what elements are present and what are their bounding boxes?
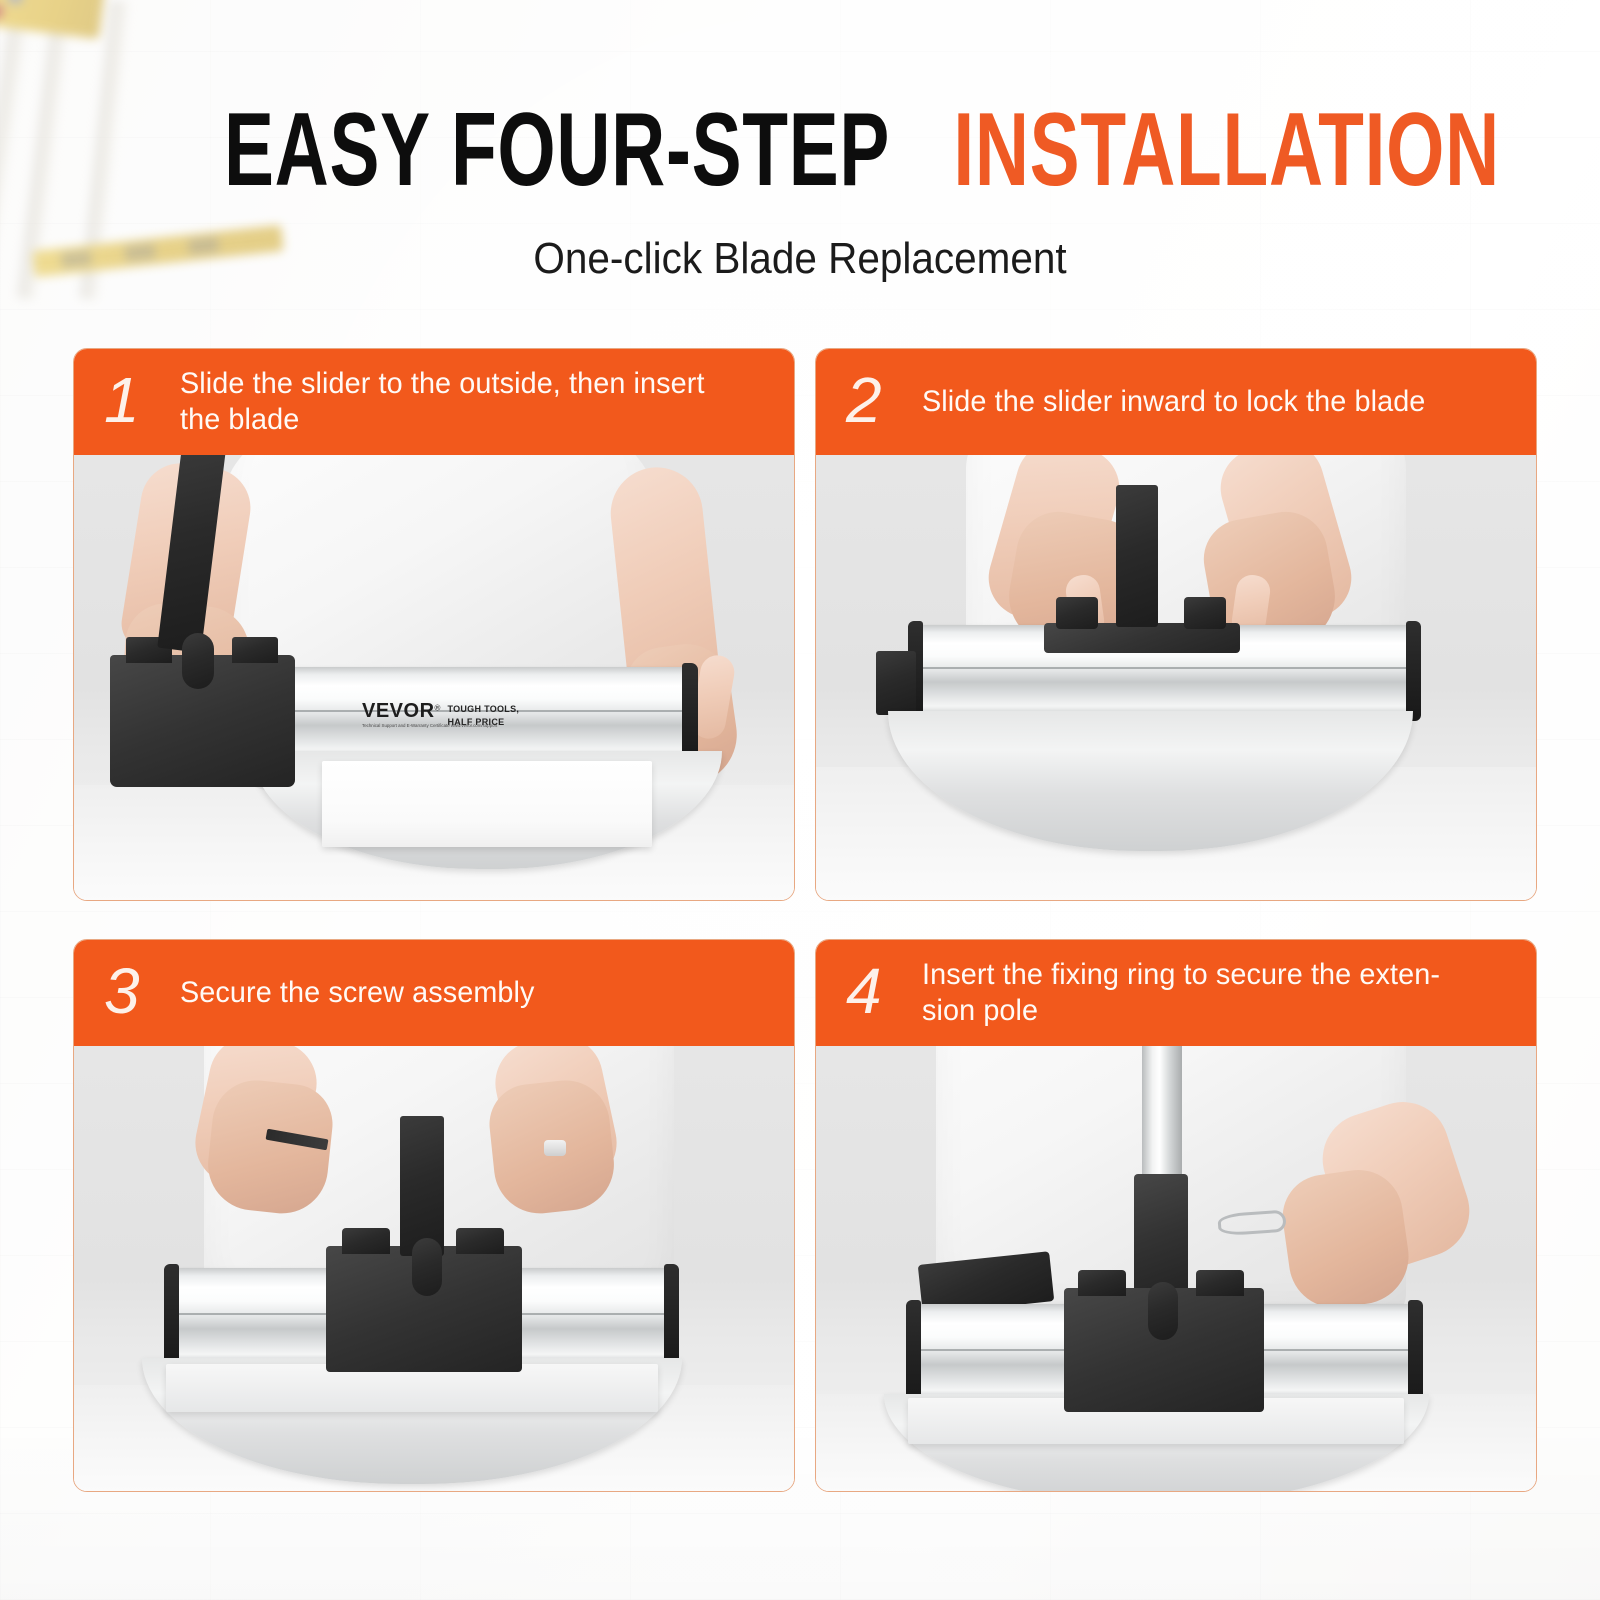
- vevor-fine-print: Technical Support and E-Warranty Certifi…: [362, 723, 497, 729]
- infographic-page: EASY FOUR-STEP INSTALLATION One-click Bl…: [0, 0, 1600, 1600]
- slider-tab-right: [232, 637, 278, 663]
- steps-grid: 1 Slide the slider to the outside, then …: [73, 348, 1537, 1533]
- slider-tab-left: [1056, 597, 1098, 629]
- step-text-3: Secure the screw assembly: [180, 975, 535, 1011]
- blade-insert-sheet: [322, 761, 652, 847]
- step-header-2: 2 Slide the slider inward to lock the bl…: [816, 349, 1536, 455]
- step-card-2: 2 Slide the slider inward to lock the bl…: [815, 348, 1537, 901]
- step-photo-2: [816, 455, 1536, 901]
- pole-grip-sleeve: [1134, 1174, 1188, 1294]
- tube-end-cap-left: [164, 1264, 179, 1370]
- nut-washer: [544, 1140, 566, 1156]
- step-photo-3: [74, 1046, 794, 1492]
- pivot-knuckle: [1148, 1282, 1178, 1340]
- bracket-tab-left: [342, 1228, 390, 1254]
- step-header-3: 3 Secure the screw assembly: [74, 940, 794, 1046]
- step-text-1: Slide the slider to the outside, then in…: [180, 366, 748, 438]
- step-header-1: 1 Slide the slider to the outside, then …: [74, 349, 794, 455]
- velcro-strap: [876, 651, 916, 715]
- bracket-tab-right: [456, 1228, 504, 1254]
- tube-end-cap-right: [664, 1264, 679, 1370]
- vevor-tagline-1: TOUGH TOOLS,: [447, 701, 519, 714]
- step-number-4: 4: [846, 959, 900, 1023]
- step-card-1: 1 Slide the slider to the outside, then …: [73, 348, 795, 901]
- step-photo-4: [816, 1046, 1536, 1492]
- page-title: EASY FOUR-STEP INSTALLATION: [224, 98, 1376, 202]
- page-subtitle: One-click Blade Replacement: [64, 232, 1536, 286]
- step-number-1: 1: [104, 368, 158, 432]
- step-photo-1: VEVOR® Technical Support and E-Warranty …: [74, 455, 794, 901]
- step-number-3: 3: [104, 959, 158, 1023]
- slider-tab-right: [1184, 597, 1226, 629]
- handle-stem: [1116, 485, 1158, 627]
- step-text-4: Insert the fixing ring to secure the ext…: [922, 957, 1490, 1029]
- vevor-wordmark: VEVOR: [362, 700, 435, 722]
- page-title-dark: EASY FOUR-STEP: [224, 92, 889, 208]
- bracket-tab-right: [1196, 1270, 1244, 1296]
- step-card-4: 4 Insert the fixing ring to secure the e…: [815, 939, 1537, 1492]
- pivot-knuckle: [412, 1238, 442, 1296]
- vevor-logo: VEVOR® Technical Support and E-Warranty …: [362, 701, 519, 727]
- tube-end-cap-right: [1406, 621, 1421, 721]
- step-number-2: 2: [846, 368, 900, 432]
- handle-stem: [400, 1116, 444, 1256]
- page-title-accent: INSTALLATION: [953, 92, 1500, 208]
- step-card-3: 3 Secure the screw assembly: [73, 939, 795, 1492]
- step-text-2: Slide the slider inward to lock the blad…: [922, 384, 1425, 420]
- tube-end-cap-right: [1408, 1300, 1423, 1406]
- step-header-4: 4 Insert the fixing ring to secure the e…: [816, 940, 1536, 1046]
- pivot-knuckle: [182, 633, 214, 689]
- tube-end-cap-left: [906, 1300, 921, 1406]
- registered-mark: ®: [435, 704, 441, 713]
- bracket-tab-left: [1078, 1270, 1126, 1296]
